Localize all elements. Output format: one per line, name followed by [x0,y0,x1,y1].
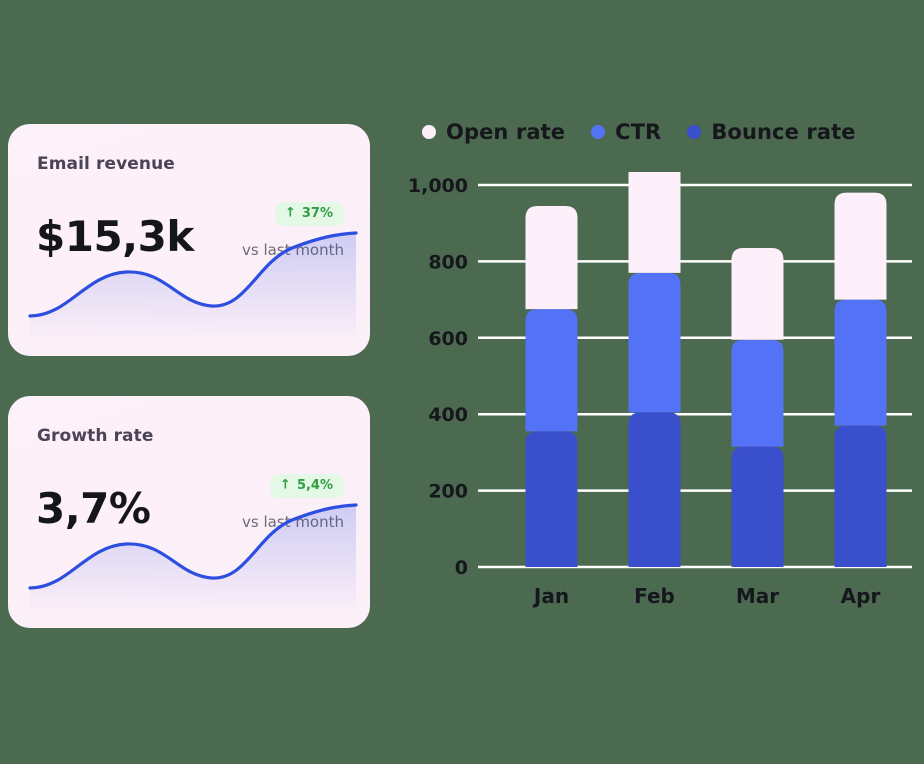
kpi-delta-value: 37% [302,207,333,220]
kpi-delta-value: 5,4% [297,479,333,492]
legend-label: Bounce rate [711,120,855,144]
bar-segment [835,426,887,567]
x-axis-tick-label: Mar [736,584,779,608]
bar-segment [526,206,578,309]
x-axis-tick-label: Jan [532,584,569,608]
arrow-up-icon: ↑ [285,207,296,220]
kpi-card-email-revenue[interactable]: Email revenue $15,3k ↑ 37% vs last month [8,124,370,356]
kpi-card-growth-rate[interactable]: Growth rate 3,7% ↑ 5,4% vs last month [8,396,370,628]
growth-rate-sparkline [8,500,370,610]
kpi-card-title: Email revenue [37,154,175,174]
legend-item-open-rate[interactable]: Open rate [422,120,565,144]
chart-plot-area: 02004006008001,000JanFebMarApr [410,172,920,650]
y-axis-tick-label: 1,000 [410,175,468,197]
x-axis-tick-label: Apr [841,584,881,608]
bar-segment [732,248,784,340]
bar-segment [732,340,784,447]
kpi-card-title: Growth rate [37,426,153,446]
bar-segment [835,300,887,426]
kpi-delta-badge: ↑ 37% [275,202,344,226]
stacked-bar-chart: Open rate CTR Bounce rate 02004006008001… [410,110,920,650]
legend-label: CTR [615,120,661,144]
y-axis-tick-label: 400 [428,404,468,426]
bar-segment [732,447,784,567]
bar-segment [629,172,681,273]
y-axis-tick-label: 800 [428,251,468,273]
legend-item-ctr[interactable]: CTR [591,120,661,144]
y-axis-tick-label: 600 [428,328,468,350]
chart-legend: Open rate CTR Bounce rate [422,120,856,144]
bar-segment [629,273,681,412]
arrow-up-icon: ↑ [280,479,291,492]
x-axis-tick-label: Feb [634,584,675,608]
bar-segment [629,412,681,567]
email-revenue-sparkline [8,228,370,338]
dashboard-root: Email revenue $15,3k ↑ 37% vs last month [0,0,924,764]
kpi-delta-badge: ↑ 5,4% [270,474,344,498]
legend-label: Open rate [446,120,565,144]
legend-item-bounce-rate[interactable]: Bounce rate [687,120,855,144]
bar-segment [526,431,578,567]
legend-swatch-icon [687,125,701,139]
kpi-cards-column: Email revenue $15,3k ↑ 37% vs last month [8,124,370,628]
y-axis-tick-label: 0 [455,557,468,579]
y-axis-tick-label: 200 [428,481,468,503]
bar-segment [526,309,578,431]
bar-segment [835,193,887,300]
legend-swatch-icon [422,125,436,139]
legend-swatch-icon [591,125,605,139]
